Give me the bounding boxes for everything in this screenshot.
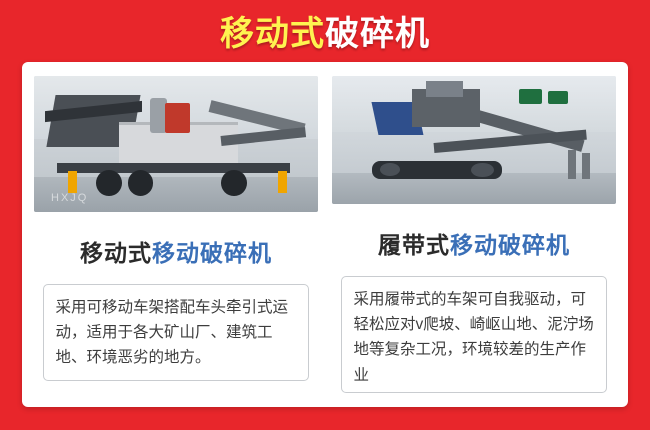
crawler-mobile-crusher-photo	[332, 76, 616, 204]
card-crawler-heading-rest: 移动破碎机	[450, 232, 570, 258]
page-title-highlight: 移动式	[220, 15, 325, 53]
wheel-shape	[221, 170, 247, 196]
crusher-red-unit-shape	[165, 103, 191, 133]
photo-watermark: HXJQ	[51, 192, 88, 204]
card-wheeled-heading-rest: 移动破碎机	[152, 240, 272, 266]
conveyor-belt-lower-shape	[434, 129, 588, 153]
wheel-shape	[96, 170, 122, 196]
page-title: 移动式破碎机	[220, 6, 430, 55]
support-leg-shape	[68, 171, 77, 193]
card-crawler: 履带式移动破碎机 采用履带式的车架可自我驱动，可轻松应对v爬坡、崎岖山地、泥泞场…	[332, 76, 616, 393]
page-title-rest: 破碎机	[325, 15, 430, 53]
card-crawler-description: 采用履带式的车架可自我驱动，可轻松应对v爬坡、崎岖山地、泥泞场地等复杂工况，环境…	[341, 276, 608, 393]
support-leg-shape	[582, 153, 591, 179]
wheeled-mobile-crusher-photo: HXJQ	[34, 76, 318, 212]
support-leg-shape	[568, 150, 577, 178]
support-leg-shape	[278, 171, 287, 193]
green-motor-shape	[548, 91, 568, 104]
machine-top-shape	[426, 81, 463, 96]
page-title-bar: 移动式破碎机	[0, 0, 650, 60]
card-wheeled: HXJQ 移动式移动破碎机 采用可移动车架搭配车头牵引式运动，适用于各大矿山厂、…	[34, 76, 318, 393]
card-wheeled-heading-highlight: 移动式	[80, 240, 152, 266]
wheel-shape	[128, 170, 154, 196]
card-wheeled-heading: 移动式移动破碎机	[80, 234, 272, 268]
card-crawler-heading-highlight: 履带式	[378, 232, 450, 258]
green-motor-shape	[519, 89, 542, 104]
content-panel: HXJQ 移动式移动破碎机 采用可移动车架搭配车头牵引式运动，适用于各大矿山厂、…	[22, 62, 628, 407]
card-wheeled-description: 采用可移动车架搭配车头牵引式运动，适用于各大矿山厂、建筑工地、环境恶劣的地方。	[43, 284, 310, 381]
trailer-chassis-shape	[57, 163, 290, 173]
card-crawler-heading: 履带式移动破碎机	[378, 226, 570, 260]
